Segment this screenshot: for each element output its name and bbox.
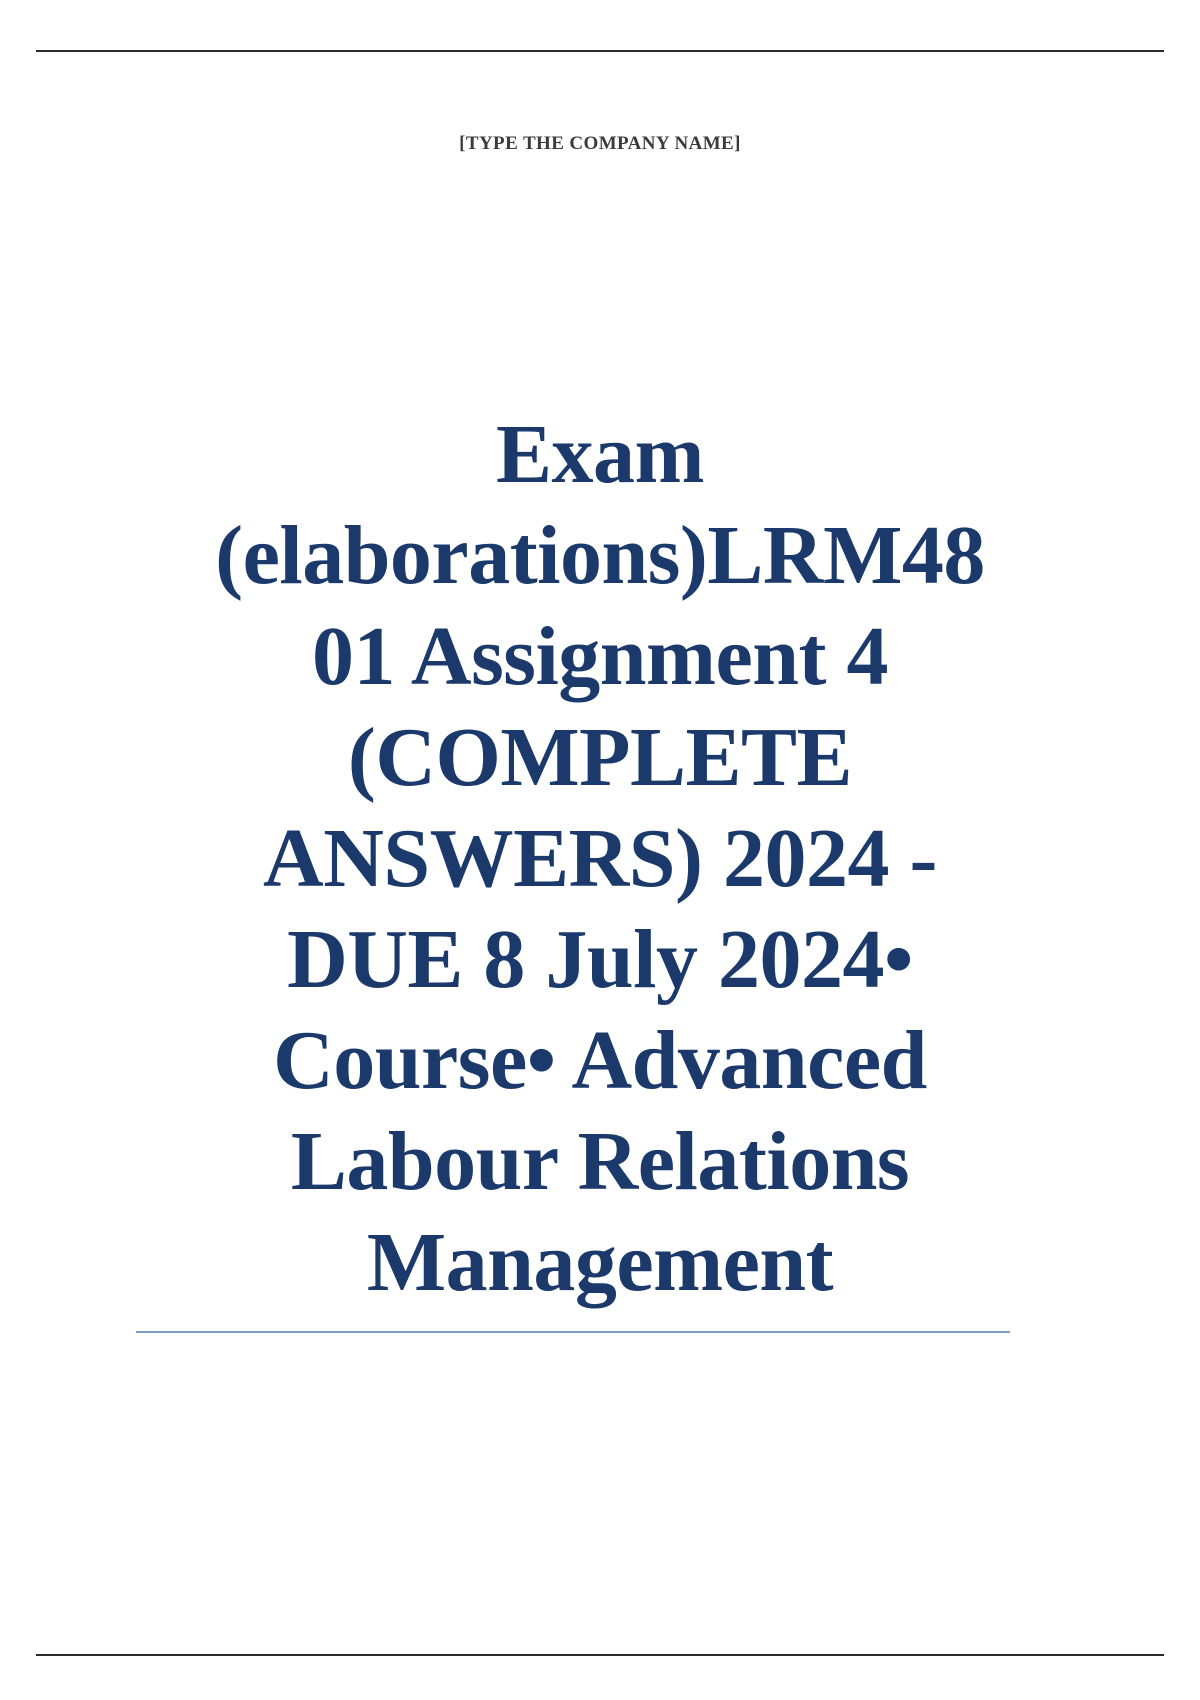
title-line: Exam	[150, 404, 1050, 505]
title-line: Course• Advanced	[150, 1010, 1050, 1111]
title-line: Management	[150, 1212, 1050, 1313]
bottom-horizontal-rule	[36, 1654, 1164, 1656]
title-line: Labour Relations	[150, 1111, 1050, 1212]
company-name-placeholder: [TYPE THE COMPANY NAME]	[0, 133, 1200, 155]
title-line: DUE 8 July 2024•	[150, 909, 1050, 1010]
document-page: [TYPE THE COMPANY NAME] Exam (elaboratio…	[0, 0, 1200, 1700]
document-title-block: Exam (elaborations)LRM48 01 Assignment 4…	[150, 404, 1050, 1313]
top-horizontal-rule	[36, 50, 1164, 52]
title-underline-rule	[136, 1331, 1010, 1333]
title-line: 01 Assignment 4	[150, 606, 1050, 707]
title-line: ANSWERS) 2024 -	[150, 808, 1050, 909]
title-line: (elaborations)LRM48	[150, 505, 1050, 606]
title-line: (COMPLETE	[150, 707, 1050, 808]
